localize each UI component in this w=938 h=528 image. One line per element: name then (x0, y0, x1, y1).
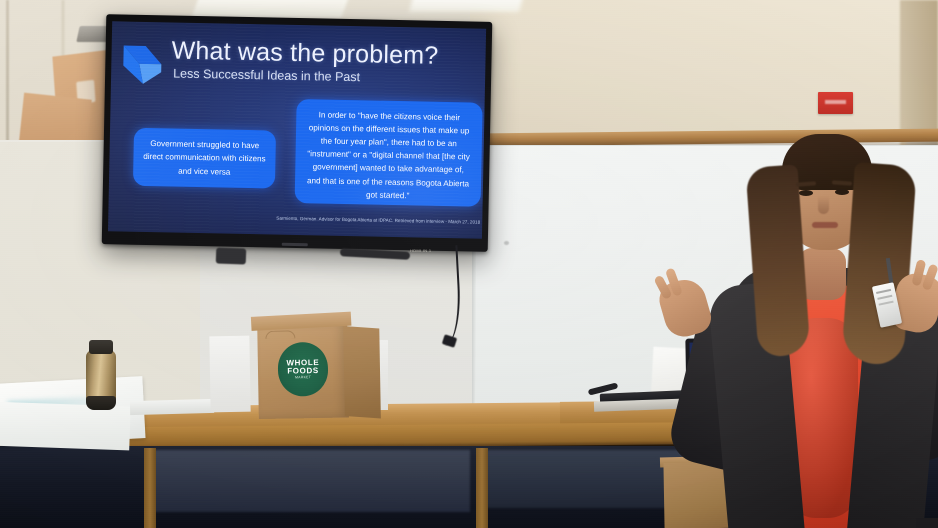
gold-thermos (84, 338, 118, 410)
slide-subtitle: Less Successful Ideas in the Past (173, 67, 360, 85)
counter-leg (476, 448, 488, 528)
whole-foods-bag: WHOLE FOODS MARKET (257, 321, 379, 419)
wall-seam (6, 0, 9, 148)
white-box-left (209, 336, 250, 413)
under-counter-shelf (150, 450, 470, 512)
thermos-cap (89, 340, 113, 354)
presenter-trousers (916, 518, 938, 528)
tv-screen: What was the problem? Less Successful Id… (108, 21, 486, 238)
presentation-slide: What was the problem? Less Successful Id… (108, 21, 486, 238)
slide-callout-left: Government struggled to have direct comm… (133, 128, 276, 189)
nose (818, 196, 829, 214)
eye-right (835, 189, 849, 195)
small-paper-stack (130, 399, 214, 415)
bag-side-panel (343, 326, 381, 419)
slide-title: What was the problem? (171, 36, 438, 70)
ceiling-light-fixture-2 (409, 0, 524, 12)
slide-citation: Sarmiento, German. Advisor for Bogota Ab… (276, 215, 481, 226)
counter-leg (144, 448, 156, 528)
presenter-person (640, 108, 938, 528)
ceiling-light-fixture (191, 0, 350, 18)
presentation-photo-scene: What was the problem? Less Successful Id… (0, 0, 938, 528)
slide-callout-right: In order to "have the citizens voice the… (295, 99, 483, 207)
eye-left (799, 190, 813, 196)
bag-brand-line-2: FOODS (287, 367, 319, 376)
thermos-base (86, 396, 116, 410)
wall-mounted-tv[interactable]: What was the problem? Less Successful Id… (102, 14, 493, 252)
bag-front-panel: WHOLE FOODS MARKET (257, 321, 349, 419)
tv-bezel-brand (282, 243, 308, 247)
bag-brand-sub: MARKET (295, 376, 311, 380)
mouth (812, 222, 838, 228)
wall-port-label: HDMI IN 1 (410, 248, 431, 253)
whole-foods-logo: WHOLE FOODS MARKET (278, 342, 329, 397)
tv-wall-mount (216, 247, 247, 264)
bag-handle (265, 330, 295, 339)
blue-chevron-logo-icon (121, 41, 164, 86)
